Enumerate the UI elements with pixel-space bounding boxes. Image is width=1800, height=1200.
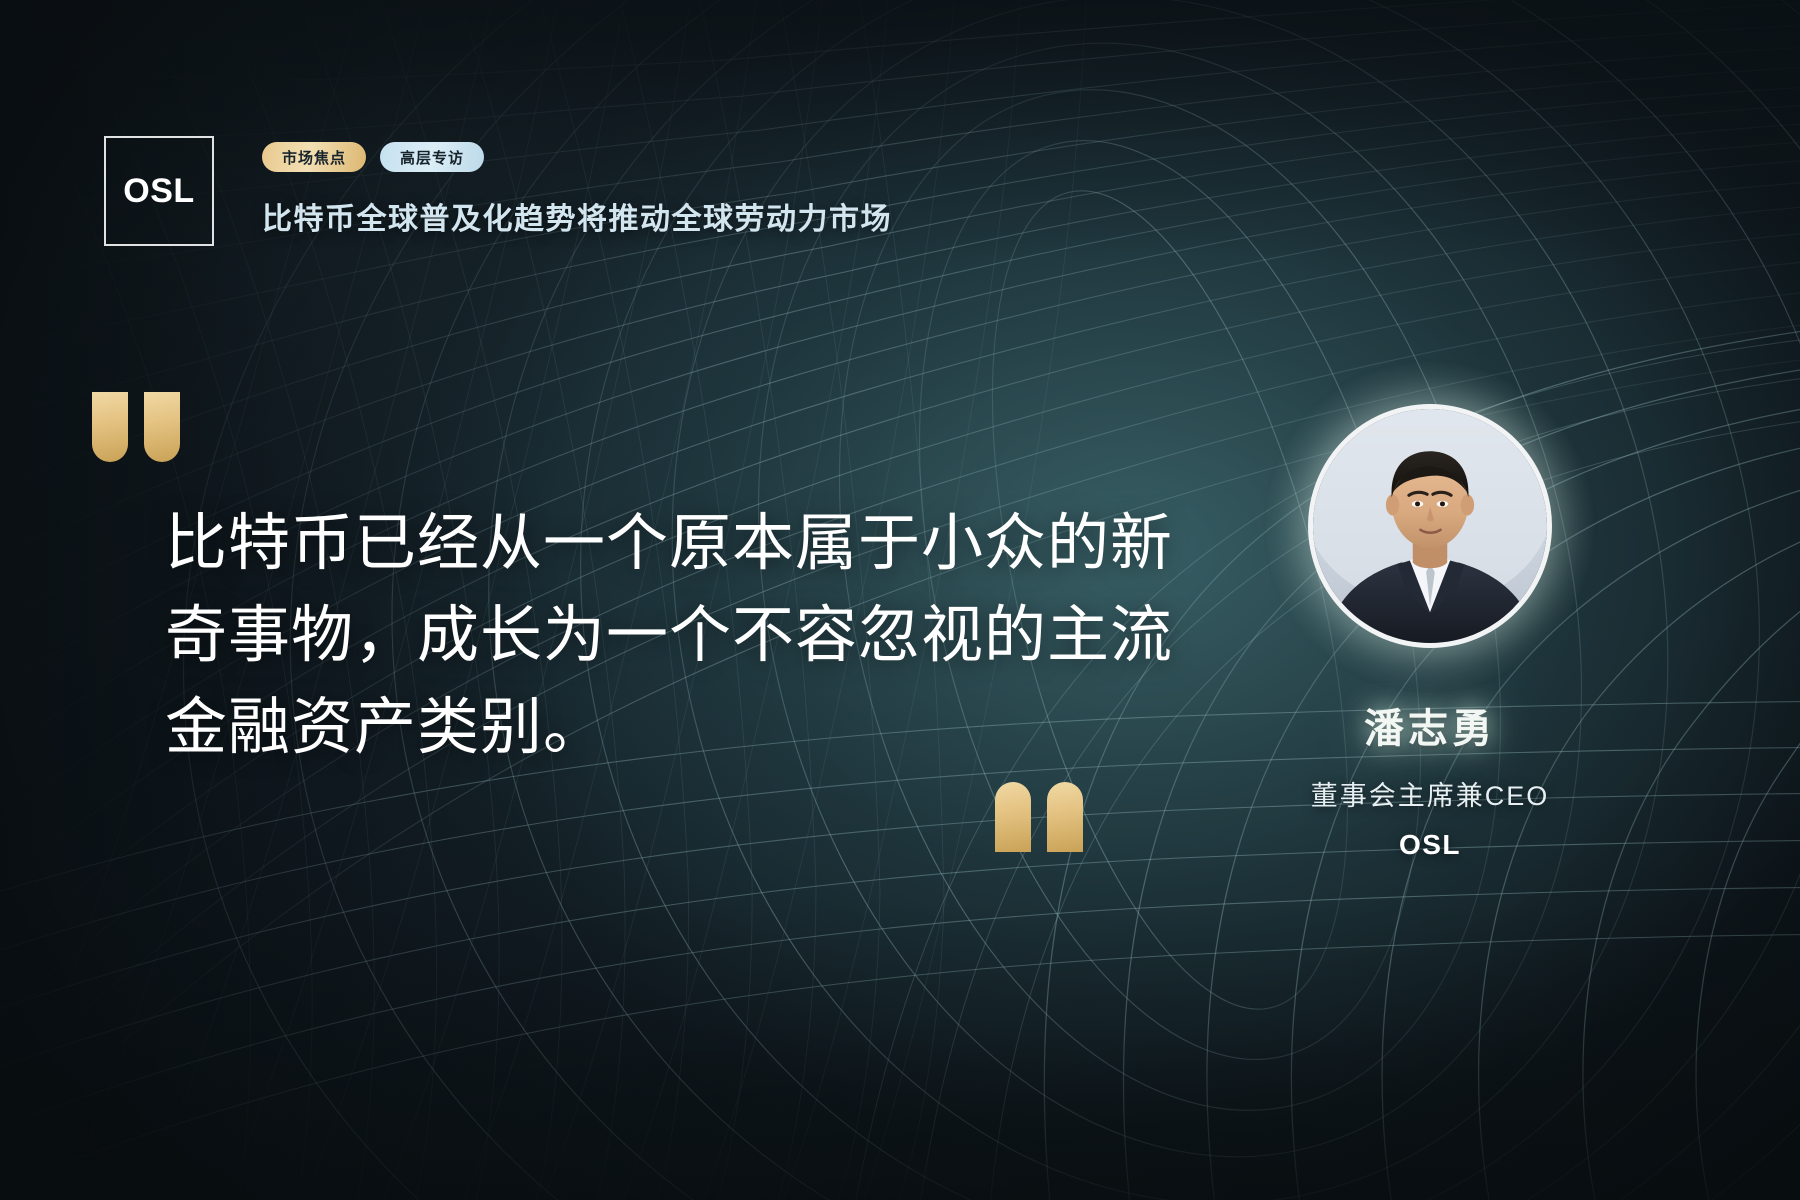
person-title: 董事会主席兼CEO — [1180, 774, 1680, 813]
quote-text: 比特币已经从一个原本属于小众的新 奇事物，成长为一个不容忽视的主流 金融资产类别… — [165, 498, 1085, 774]
bottom-fade-overlay — [0, 900, 1800, 1200]
avatar-photo — [1313, 409, 1547, 643]
badge-group: 市场焦点 高层专访 — [262, 142, 892, 172]
quote-glyph-right-a — [995, 782, 1031, 852]
quote-line: 比特币已经从一个原本属于小众的新 — [165, 498, 1085, 590]
avatar — [1308, 404, 1552, 648]
quote-open-mark — [92, 392, 180, 462]
person-organization: OSL — [1180, 829, 1680, 861]
quote-card: OSL 市场焦点 高层专访 比特币全球普及化趋势将推动全球劳动力市场 比特币已经… — [0, 0, 1800, 1200]
badge-market-focus[interactable]: 市场焦点 — [262, 142, 366, 172]
osl-logo-text: OSL — [123, 172, 194, 211]
avatar-ring — [1308, 404, 1552, 648]
page-title: 比特币全球普及化趋势将推动全球劳动力市场 — [262, 194, 892, 238]
quote-line: 奇事物，成长为一个不容忽视的主流 — [165, 590, 1085, 682]
header-text-group: 市场焦点 高层专访 比特币全球普及化趋势将推动全球劳动力市场 — [262, 136, 892, 238]
quote-close-mark — [995, 782, 1083, 852]
header: OSL 市场焦点 高层专访 比特币全球普及化趋势将推动全球劳动力市场 — [104, 136, 892, 246]
person-name: 潘志勇 — [1180, 696, 1680, 754]
osl-logo: OSL — [104, 136, 214, 246]
attribution-block: 潘志勇 董事会主席兼CEO OSL — [1180, 404, 1680, 861]
badge-executive-interview[interactable]: 高层专访 — [380, 142, 484, 172]
quote-glyph-right-b — [1047, 782, 1083, 852]
quote-glyph-left-b — [144, 392, 180, 462]
quote-glyph-left-a — [92, 392, 128, 462]
quote-line: 金融资产类别。 — [165, 682, 1085, 774]
